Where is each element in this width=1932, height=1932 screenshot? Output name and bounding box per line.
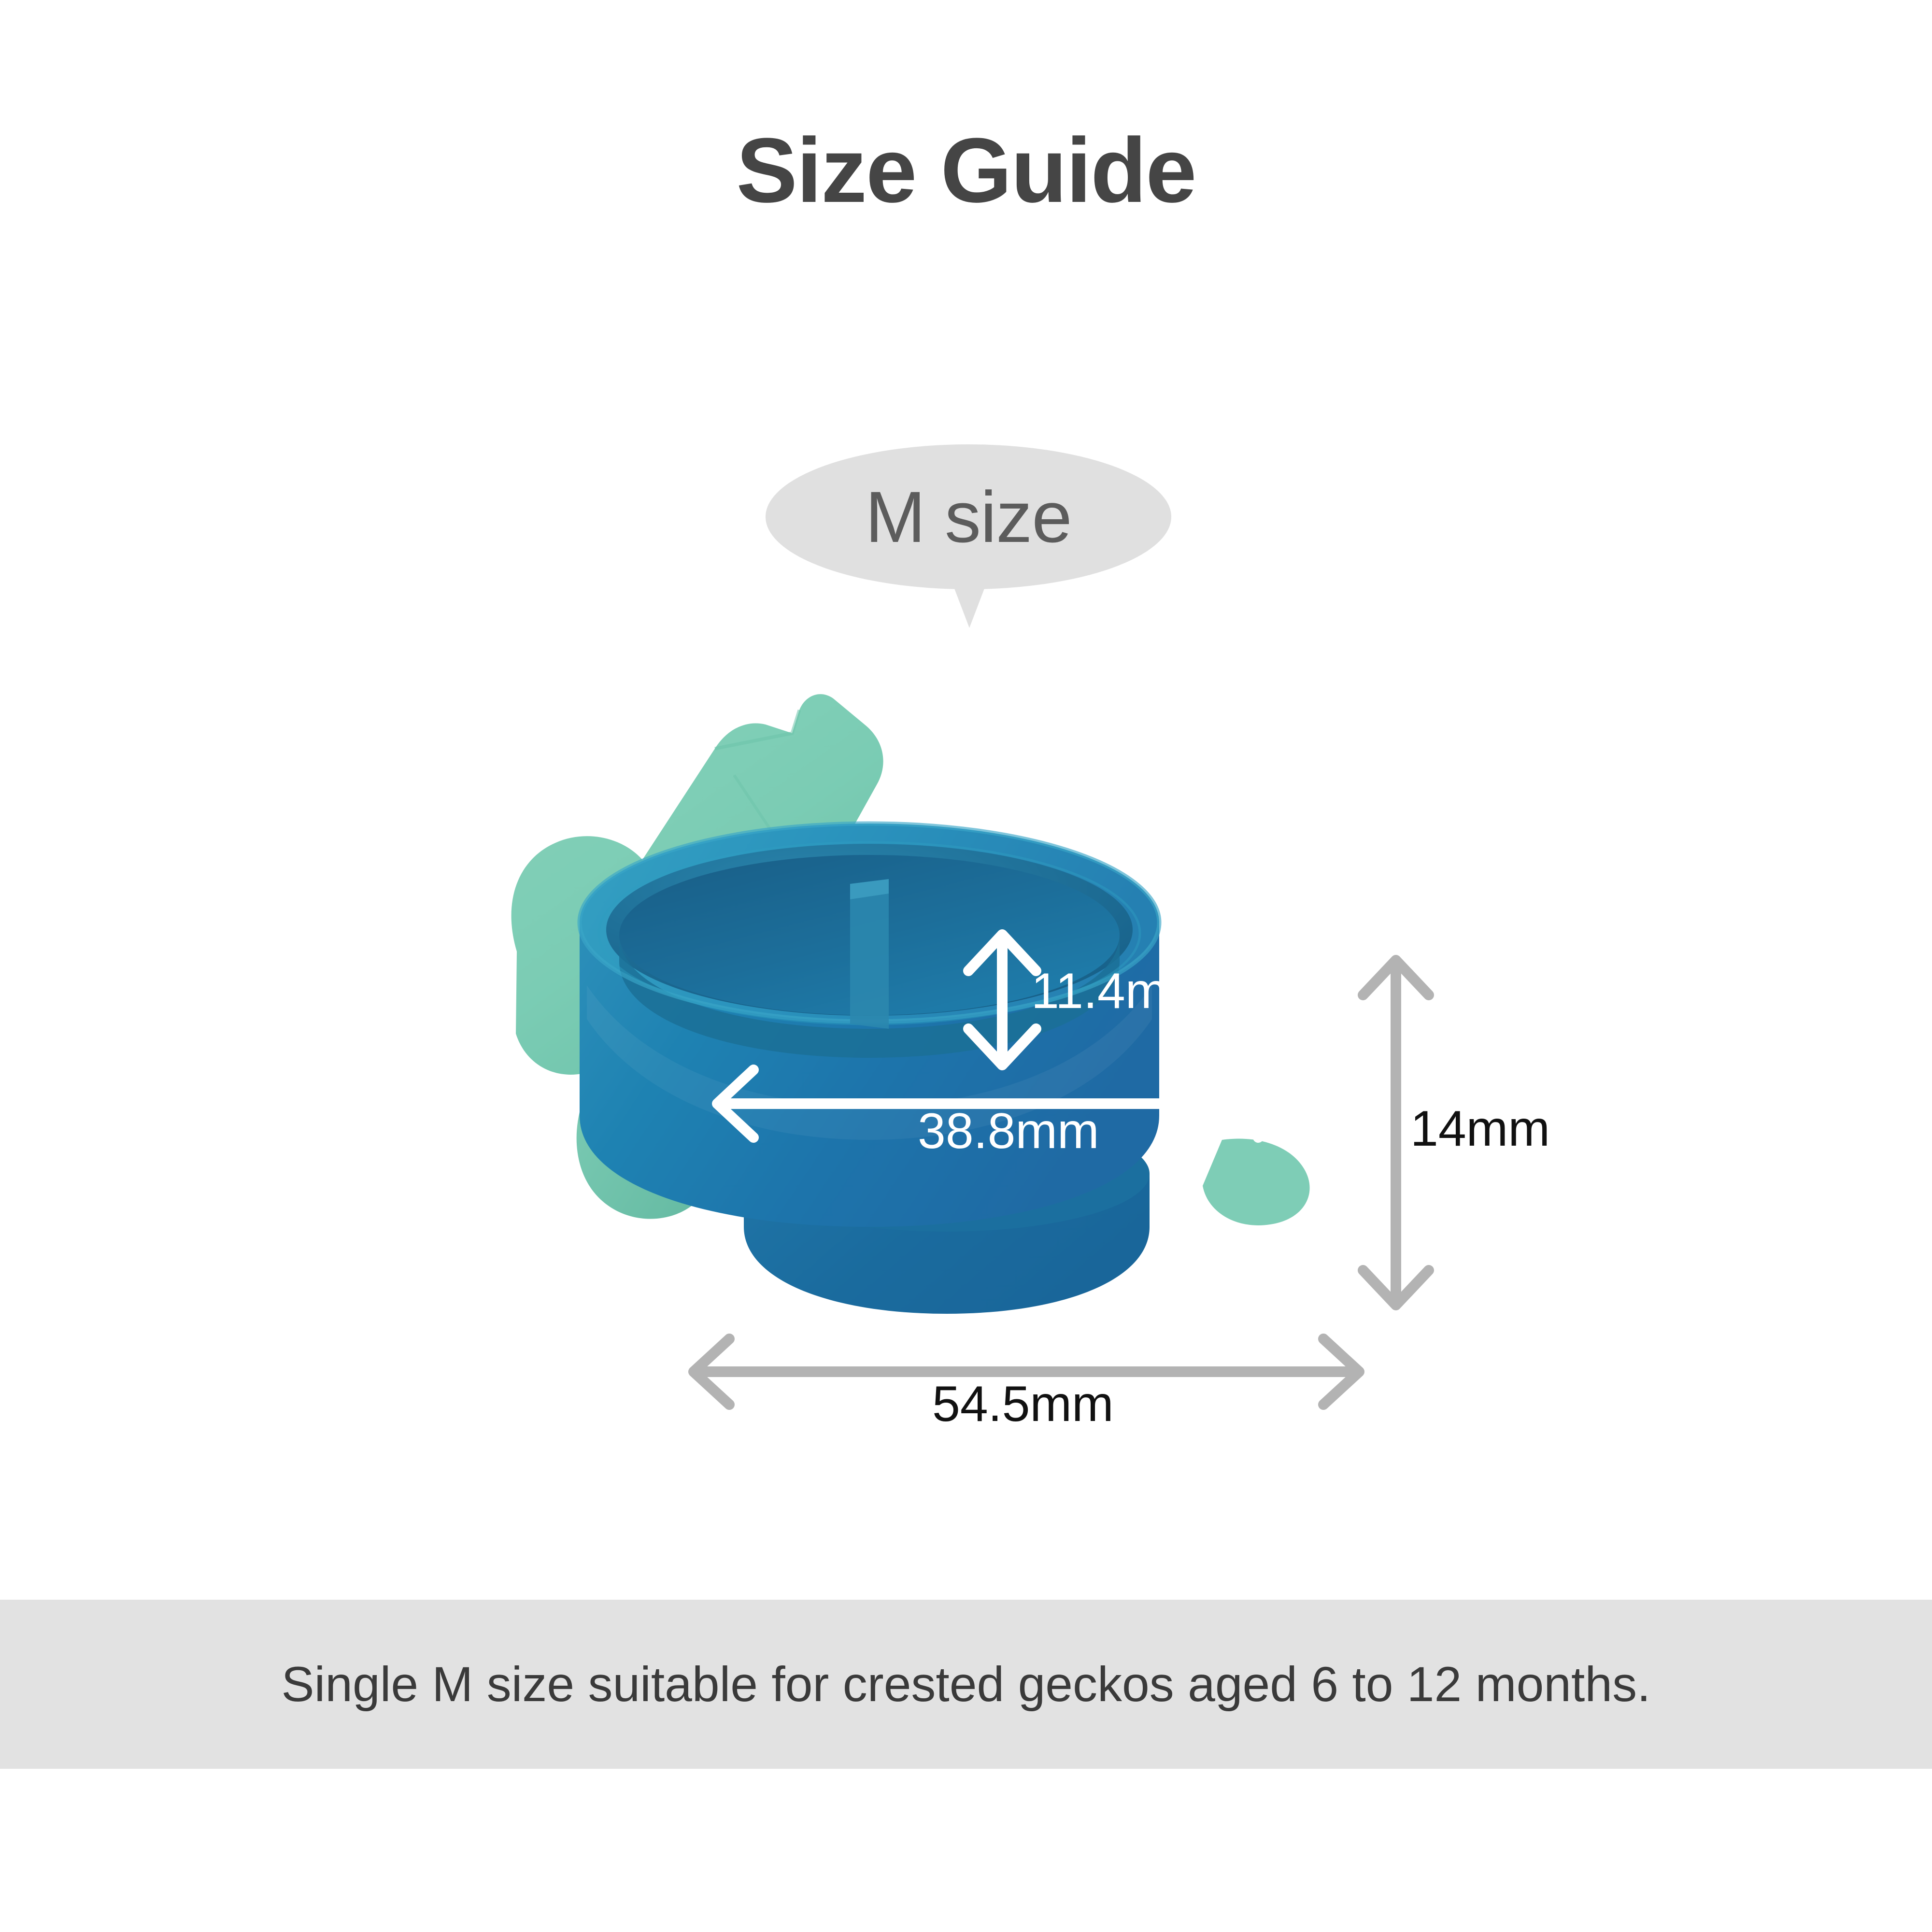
dimension-label-inner-diameter: 38.8mm — [918, 1106, 1099, 1156]
size-guide-page: Size Guide M size — [0, 0, 1932, 1932]
bowl-divider — [850, 879, 889, 1029]
product-image — [483, 652, 1497, 1377]
dimension-label-total-height: 14mm — [1410, 1104, 1550, 1154]
dimension-label-total-width: 54.5mm — [932, 1379, 1114, 1429]
size-badge-label: M size — [766, 444, 1171, 589]
caption-bar: Single M size suitable for crested gecko… — [0, 1600, 1932, 1769]
size-badge: M size — [766, 444, 1171, 599]
caption-text: Single M size suitable for crested gecko… — [282, 1656, 1651, 1713]
page-title: Size Guide — [0, 125, 1932, 216]
gecko-leg-right-icon — [1203, 1139, 1310, 1225]
dimension-label-inner-depth: 11.4mm — [1031, 966, 1209, 1016]
